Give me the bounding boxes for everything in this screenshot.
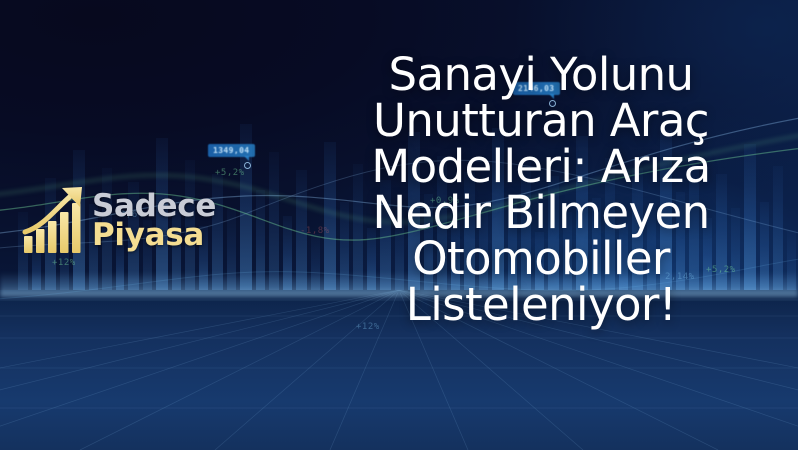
- tooltip-tail: [244, 156, 249, 161]
- growth-bar-chart-arrow-icon: [22, 184, 86, 256]
- headline-line-4: Nedir Bilmeyen: [300, 190, 782, 236]
- logo-text-piyasa: Piyasa: [92, 221, 216, 250]
- chart-value-tooltip: 1349,04: [208, 144, 255, 157]
- headline-line-3: Modelleri: Arıza: [300, 144, 782, 190]
- chart-data-point: [244, 162, 251, 169]
- headline-line-5: Otomobiller: [300, 236, 782, 282]
- article-headline: Sanayi YolunuUnutturan AraçModelleri: Ar…: [300, 52, 782, 327]
- headline-line-1: Sanayi Yolunu: [300, 52, 782, 98]
- headline-line-2: Unutturan Araç: [300, 98, 782, 144]
- headline-line-6: Listeleniyor!: [300, 282, 782, 328]
- article-banner: +5,2%+5,2%+12%+12%-1,8%2,14%3,6%+0,9%134…: [0, 0, 798, 450]
- brand-logo[interactable]: Sadece Piyasa: [22, 176, 234, 264]
